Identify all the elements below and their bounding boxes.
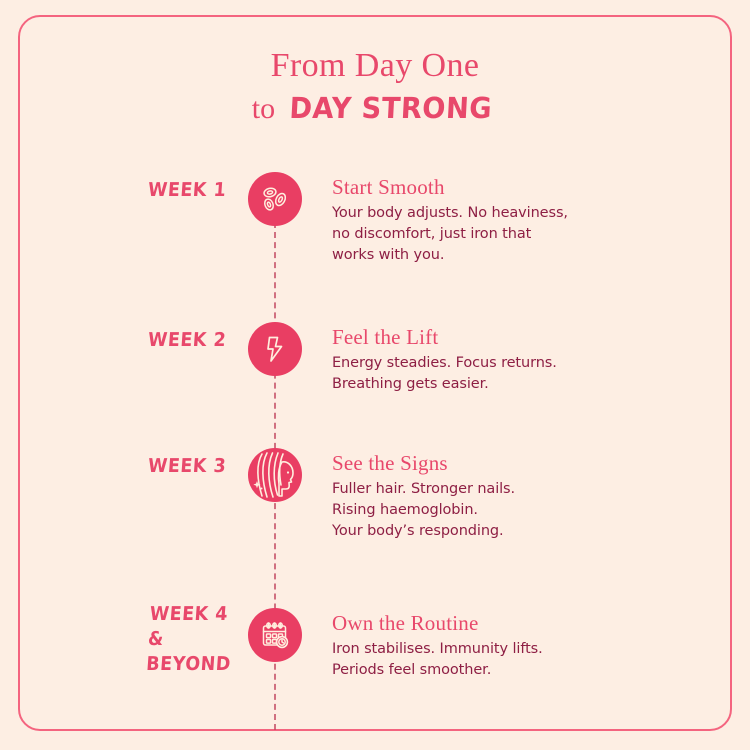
- timeline-heading: Feel the Lift: [332, 324, 662, 350]
- timeline-body: Your body adjusts. No heaviness, no disc…: [332, 203, 662, 266]
- woman-hair-profile-icon: [248, 448, 302, 502]
- calendar-clock-icon: [259, 619, 291, 651]
- timeline-node[interactable]: [248, 448, 302, 502]
- timeline-node[interactable]: [248, 608, 302, 662]
- timeline-content: Own the Routine Iron stabilises. Immunit…: [332, 610, 662, 681]
- title-line-two: to DAY STRONG: [0, 88, 750, 134]
- timeline-body: Iron stabilises. Immunity lifts. Periods…: [332, 639, 662, 681]
- week-label: WEEK 2: [147, 328, 250, 353]
- timeline-node[interactable]: [248, 172, 302, 226]
- timeline-body: Energy steadies. Focus returns. Breathin…: [332, 353, 662, 395]
- title-emphasis-word: DAY STRONG: [288, 88, 493, 128]
- infographic-canvas: From Day One to DAY STRONG WEEK 1 Start …: [0, 0, 750, 750]
- timeline-heading: See the Signs: [332, 450, 662, 476]
- timeline-body: Fuller hair. Stronger nails. Rising haem…: [332, 479, 662, 542]
- week-label: WEEK 3: [147, 454, 250, 479]
- timeline-content: Feel the Lift Energy steadies. Focus ret…: [332, 324, 662, 395]
- page-title: From Day One to DAY STRONG: [0, 46, 750, 134]
- lightning-bolt-icon: [260, 334, 290, 364]
- title-line-one: From Day One: [0, 46, 750, 86]
- timeline-heading: Start Smooth: [332, 174, 662, 200]
- timeline-heading: Own the Routine: [332, 610, 662, 636]
- timeline-content: Start Smooth Your body adjusts. No heavi…: [332, 174, 662, 266]
- title-connector-word: to: [252, 92, 283, 125]
- timeline-content: See the Signs Fuller hair. Stronger nail…: [332, 450, 662, 542]
- week-label: WEEK 1: [147, 178, 250, 203]
- timeline-node[interactable]: [248, 322, 302, 376]
- blood-cells-icon: [259, 183, 291, 215]
- week-label: WEEK 4 & BEYOND: [145, 602, 251, 677]
